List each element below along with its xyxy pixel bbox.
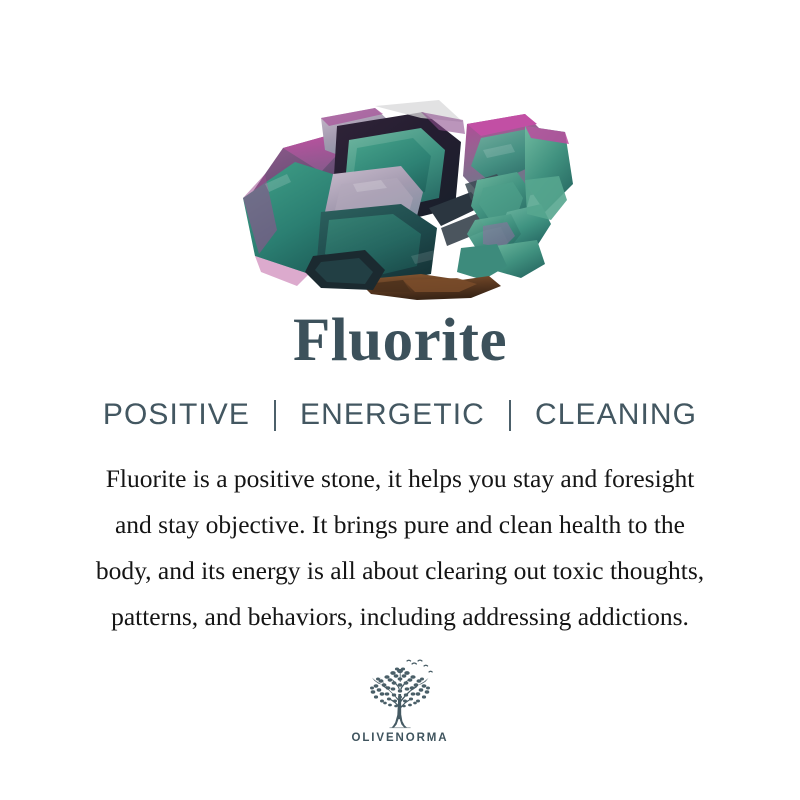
keyword-separator [509,400,511,431]
hero-image-area [0,0,800,310]
fluorite-specimen-icon [225,88,580,303]
keyword-cleaning: CLEANING [533,400,699,430]
brand-logo: OLIVENORMA [352,658,449,745]
description-line: Fluorite is a positive stone, it helps y… [15,456,785,502]
description-line: and stay objective. It brings pure and c… [15,502,785,548]
product-card: Fluorite POSITIVE ENERGETIC CLEANING Flu… [0,0,800,800]
birds-icon [407,660,432,672]
keyword-separator [274,400,276,431]
keyword-energetic: ENERGETIC [298,400,487,430]
page-title: Fluorite [293,310,507,373]
description-line: patterns, and behaviors, including addre… [15,594,785,640]
brand-wordmark: OLIVENORMA [352,733,449,745]
keyword-positive: POSITIVE [101,400,252,430]
description-line: body, and its energy is all about cleari… [15,548,785,594]
keyword-strip: POSITIVE ENERGETIC CLEANING [101,399,699,430]
olive-tree-icon [360,658,440,732]
description-paragraph: Fluorite is a positive stone, it helps y… [15,456,785,640]
fluorite-specimen-image [225,88,580,303]
